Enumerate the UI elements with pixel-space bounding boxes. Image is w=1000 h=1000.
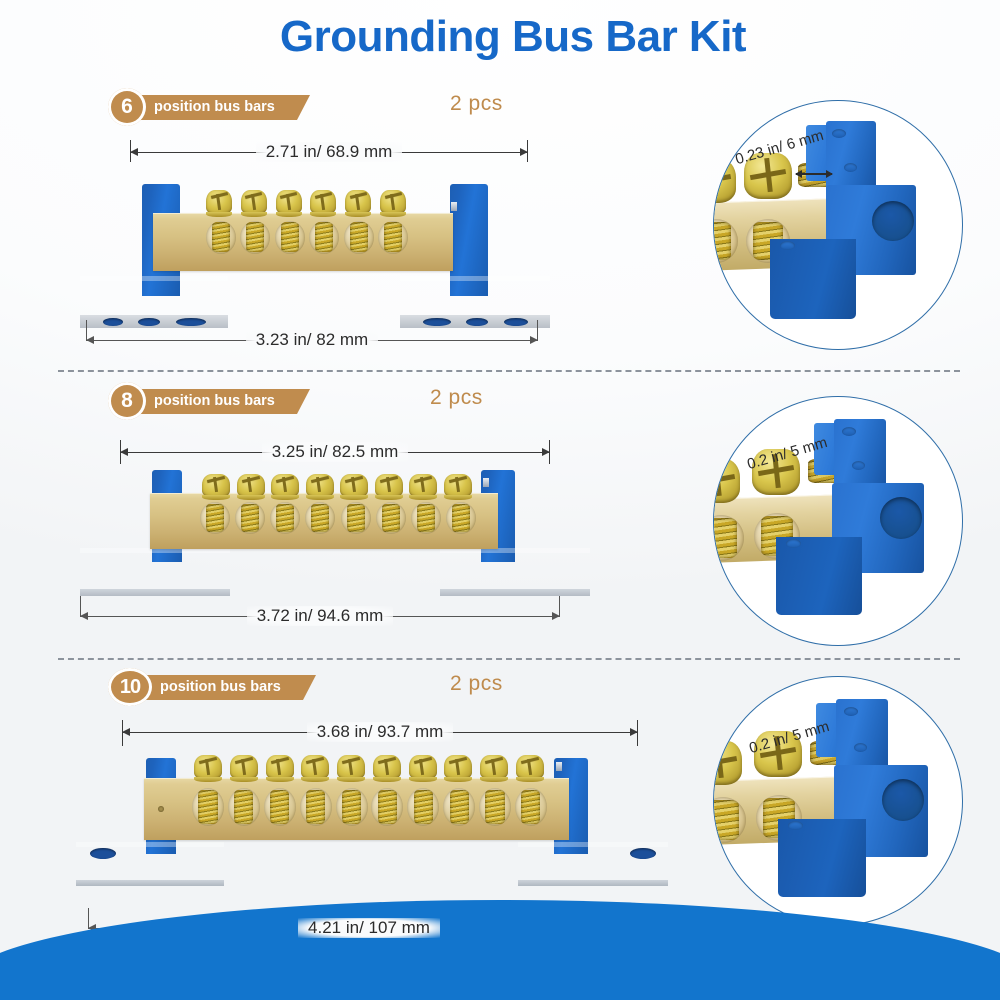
threaded-hole bbox=[192, 788, 224, 826]
section-divider bbox=[58, 370, 960, 372]
dimension-bottom-label: 3.72 in/ 94.6 mm bbox=[247, 606, 394, 626]
badge-number: 6 bbox=[108, 88, 146, 126]
terminal-screw bbox=[444, 474, 472, 498]
dimension-top-6: 2.71 in/ 68.9 mm bbox=[130, 140, 528, 164]
threaded-hole bbox=[336, 788, 368, 826]
threaded-holes bbox=[200, 500, 476, 536]
detail-closeup-6: 0.23 in/ 6 mm bbox=[713, 100, 963, 350]
mounting-hole bbox=[138, 318, 160, 326]
threaded-hole bbox=[300, 788, 332, 826]
extension-line bbox=[559, 596, 560, 616]
threaded-hole bbox=[228, 788, 260, 826]
product-infographic: Grounding Bus Bar Kit 6 position bus bar… bbox=[0, 0, 1000, 1000]
threaded-holes bbox=[192, 786, 547, 828]
extension-line bbox=[549, 440, 550, 464]
mounting-hole bbox=[423, 318, 451, 326]
screw-terminal-nub bbox=[451, 202, 457, 211]
threaded-hole bbox=[479, 788, 511, 826]
threaded-hole bbox=[270, 502, 300, 534]
terminal-screw bbox=[306, 474, 334, 498]
badge-number: 10 bbox=[108, 668, 152, 706]
mounting-hole bbox=[630, 848, 656, 859]
threaded-hole bbox=[411, 502, 441, 534]
section-divider bbox=[58, 658, 960, 660]
terminal-screw bbox=[345, 190, 371, 215]
terminal-screw bbox=[375, 474, 403, 498]
threaded-hole bbox=[407, 788, 439, 826]
threaded-hole bbox=[264, 788, 296, 826]
extension-line bbox=[537, 320, 538, 340]
dimension-bottom-6: 3.23 in/ 82 mm bbox=[86, 328, 538, 352]
mounting-hole bbox=[466, 318, 488, 326]
mounting-hole bbox=[103, 318, 123, 326]
extension-line bbox=[88, 908, 89, 928]
terminal-screw bbox=[206, 190, 232, 215]
terminal-screw bbox=[380, 190, 406, 215]
extension-line bbox=[86, 320, 87, 340]
badge-8-position: 8 position bus bars bbox=[108, 382, 297, 422]
dimension-top-label: 3.68 in/ 93.7 mm bbox=[307, 722, 454, 742]
bus-bar-6-position bbox=[80, 176, 550, 328]
extension-line bbox=[527, 140, 528, 162]
threaded-hole bbox=[515, 788, 547, 826]
threaded-hole bbox=[378, 221, 408, 254]
threaded-hole bbox=[443, 788, 475, 826]
terminal-screw bbox=[480, 755, 508, 780]
mounting-hole bbox=[176, 318, 206, 326]
quantity-label: 2 pcs bbox=[450, 92, 503, 116]
terminal-screw bbox=[516, 755, 544, 780]
terminal-screw bbox=[237, 474, 265, 498]
extension-line bbox=[122, 720, 123, 746]
bus-bar-10-position bbox=[84, 750, 674, 890]
mounting-hole bbox=[504, 318, 528, 326]
threaded-hole bbox=[240, 221, 270, 254]
badge-label: position bus bars bbox=[138, 95, 297, 120]
section-6-position: 6 position bus bars 2 pcs 2.71 in/ 68.9 … bbox=[0, 88, 1000, 358]
quantity-label: 2 pcs bbox=[430, 386, 483, 410]
extension-line bbox=[130, 140, 131, 162]
dimension-bottom-8: 3.72 in/ 94.6 mm bbox=[80, 604, 560, 628]
threaded-hole bbox=[376, 502, 406, 534]
terminal-screw bbox=[202, 474, 230, 498]
threaded-hole bbox=[275, 221, 305, 254]
quantity-label: 2 pcs bbox=[450, 672, 503, 696]
threaded-hole bbox=[341, 502, 371, 534]
pilot-hole bbox=[158, 806, 164, 812]
extension-line bbox=[120, 440, 121, 464]
threaded-hole bbox=[305, 502, 335, 534]
terminal-screw bbox=[194, 755, 222, 780]
terminal-screws bbox=[194, 754, 544, 780]
dimension-bottom-label: 4.21 in/ 107 mm bbox=[298, 918, 440, 938]
threaded-hole bbox=[200, 502, 230, 534]
dimension-top-8: 3.25 in/ 82.5 mm bbox=[120, 440, 550, 464]
threaded-hole bbox=[371, 788, 403, 826]
terminal-screw bbox=[444, 755, 472, 780]
terminal-screw bbox=[276, 190, 302, 215]
threaded-hole bbox=[235, 502, 265, 534]
threaded-hole bbox=[446, 502, 476, 534]
badge-number: 8 bbox=[108, 382, 146, 420]
mounting-hole bbox=[90, 848, 116, 859]
dimension-top-label: 2.71 in/ 68.9 mm bbox=[256, 142, 403, 162]
extension-line bbox=[637, 720, 638, 746]
badge-10-position: 10 position bus bars bbox=[108, 668, 303, 708]
terminal-screw bbox=[266, 755, 294, 780]
page-title: Grounding Bus Bar Kit bbox=[0, 12, 1000, 62]
terminal-screws bbox=[202, 472, 472, 498]
badge-label: position bus bars bbox=[144, 675, 303, 700]
terminal-screw bbox=[241, 190, 267, 215]
badge-label: position bus bars bbox=[138, 389, 297, 414]
detail-closeup-8: 0.2 in/ 5 mm bbox=[713, 396, 963, 646]
extension-line bbox=[80, 596, 81, 616]
terminal-screw bbox=[409, 755, 437, 780]
terminal-screw bbox=[271, 474, 299, 498]
terminal-screw bbox=[373, 755, 401, 780]
terminal-screw bbox=[301, 755, 329, 780]
threaded-hole bbox=[344, 221, 374, 254]
terminal-screw bbox=[310, 190, 336, 215]
terminal-screw bbox=[337, 755, 365, 780]
terminal-screw bbox=[409, 474, 437, 498]
bus-bar-8-position bbox=[80, 470, 590, 598]
screw-terminal-nub bbox=[483, 478, 489, 487]
terminal-screws bbox=[206, 187, 406, 215]
badge-6-position: 6 position bus bars bbox=[108, 88, 297, 128]
terminal-screw bbox=[230, 755, 258, 780]
detail-closeup-10: 0.2 in/ 5 mm bbox=[713, 676, 963, 926]
threaded-holes bbox=[206, 218, 408, 256]
dimension-bottom-label: 3.23 in/ 82 mm bbox=[246, 330, 378, 350]
threaded-hole bbox=[206, 221, 236, 254]
screw-terminal-nub bbox=[556, 762, 562, 771]
section-8-position: 8 position bus bars 2 pcs 3.25 in/ 82.5 … bbox=[0, 382, 1000, 652]
dimension-top-10: 3.68 in/ 93.7 mm bbox=[122, 720, 638, 744]
threaded-hole bbox=[309, 221, 339, 254]
terminal-screw bbox=[340, 474, 368, 498]
dimension-top-label: 3.25 in/ 82.5 mm bbox=[262, 442, 409, 462]
